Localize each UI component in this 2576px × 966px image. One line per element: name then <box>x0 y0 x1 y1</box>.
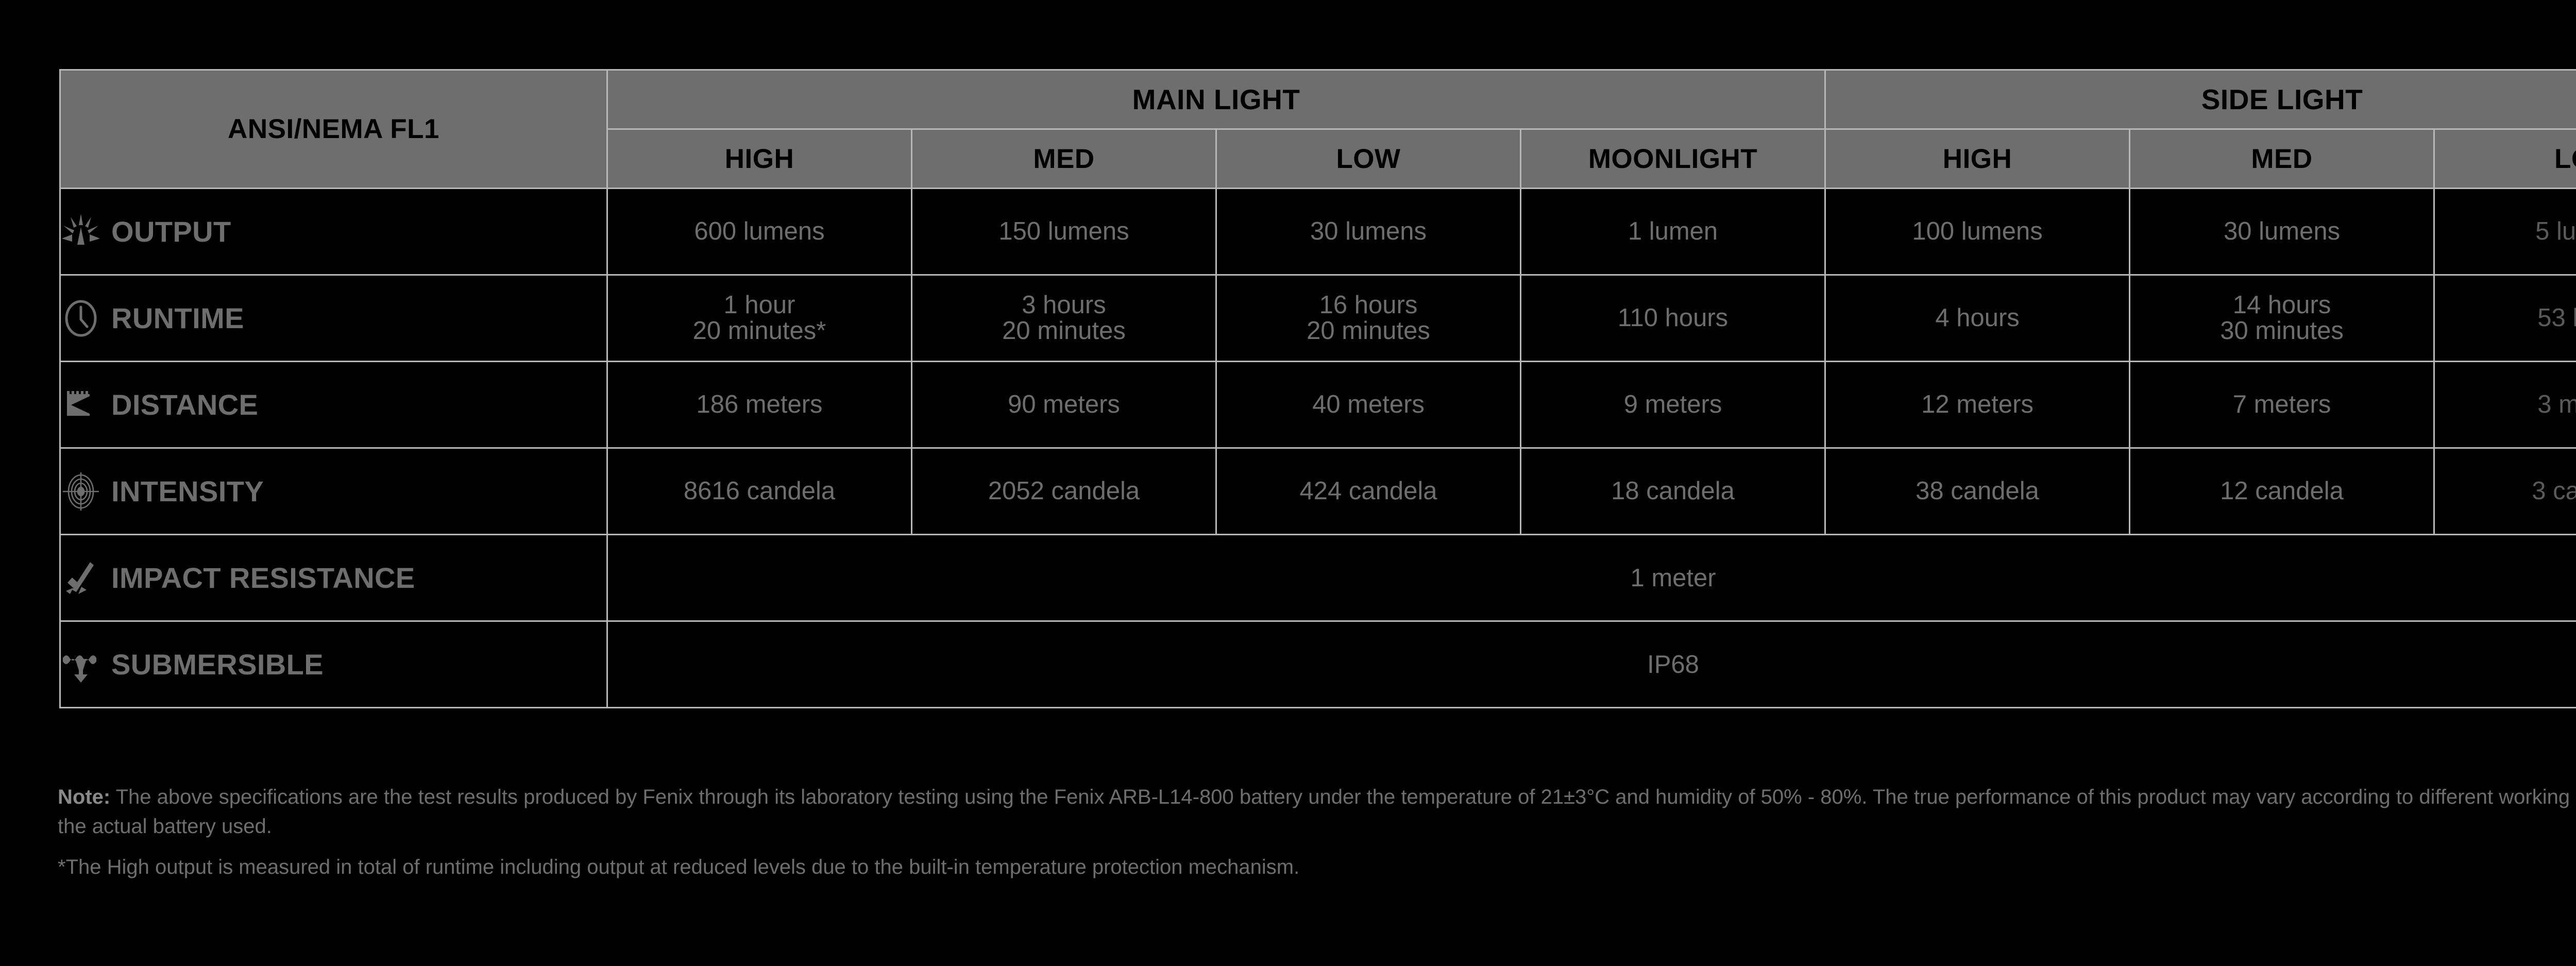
row-header-runtime: RUNTIME <box>60 275 607 362</box>
footnote-paragraph: *The High output is measured in total of… <box>58 853 2576 882</box>
cell-runtime-side-high: 4 hours <box>1825 275 2130 362</box>
cell-value: 110 hours <box>1618 304 1728 332</box>
row-label-distance: DISTANCE <box>111 388 258 421</box>
row-label-submersible: SUBMERSIBLE <box>111 648 324 681</box>
subheader-main-med: MED <box>912 129 1216 189</box>
cell-output-side-med: 30 lumens <box>2130 189 2434 275</box>
cell-value: 12 candela <box>2220 477 2344 505</box>
cell-intensity-main-moonlight: 18 candela <box>1521 448 1825 535</box>
note-body: The above specifications are the test re… <box>58 786 2576 838</box>
note-paragraph: Note: The above specifications are the t… <box>58 783 2576 841</box>
cell-output-main-moonlight: 1 lumen <box>1521 189 1825 275</box>
row-label-runtime: RUNTIME <box>111 301 244 335</box>
cell-value: 4 hours <box>1935 304 2019 332</box>
cell-value-line2: 20 minutes <box>1217 318 1520 344</box>
cell-value: 9 meters <box>1624 391 1722 418</box>
cell-value-line1: 3 hours <box>1022 291 1106 319</box>
cell-distance-main-low: 40 meters <box>1216 362 1521 448</box>
cell-output-side-low: 5 lumens <box>2434 189 2576 275</box>
group-header-side-light: SIDE LIGHT <box>1825 70 2576 129</box>
table-row: SUBMERSIBLE IP68 <box>60 621 2576 708</box>
row-header-distance: DISTANCE <box>60 362 607 448</box>
cell-value: 40 meters <box>1312 391 1425 418</box>
cell-runtime-main-moonlight: 110 hours <box>1521 275 1825 362</box>
cell-submersible-value: IP68 <box>607 621 2576 708</box>
notes-section: Note: The above specifications are the t… <box>58 783 2576 893</box>
subheader-side-low: LOW <box>2434 129 2576 189</box>
cell-intensity-side-high: 38 candela <box>1825 448 2130 535</box>
cell-distance-main-med: 90 meters <box>912 362 1216 448</box>
table-row: DISTANCE 186 meters 90 meters 40 meters … <box>60 362 2576 448</box>
cell-value-line2: 20 minutes* <box>608 318 911 344</box>
row-header-submersible: SUBMERSIBLE <box>60 621 607 708</box>
table-row: INTENSITY 8616 candela 2052 candela 424 … <box>60 448 2576 535</box>
table-row: RUNTIME 1 hour 20 minutes* 3 hours 20 mi… <box>60 275 2576 362</box>
row-label-impact-resistance: IMPACT RESISTANCE <box>111 561 415 595</box>
header-row-groups: ANSI/NEMA FL1 MAIN LIGHT SIDE LIGHT <box>60 70 2576 129</box>
table-header: ANSI/NEMA FL1 MAIN LIGHT SIDE LIGHT HIGH… <box>60 70 2576 189</box>
spec-sheet-page: ANSI/NEMA FL1 MAIN LIGHT SIDE LIGHT HIGH… <box>0 0 2576 966</box>
row-header-output: OUTPUT <box>60 189 607 275</box>
cell-value-line2: 20 minutes <box>912 318 1215 344</box>
cell-value: 8616 candela <box>684 477 835 505</box>
cell-value: 186 meters <box>696 391 822 418</box>
cell-intensity-side-med: 12 candela <box>2130 448 2434 535</box>
cell-output-main-med: 150 lumens <box>912 189 1216 275</box>
cell-runtime-main-low: 16 hours 20 minutes <box>1216 275 1521 362</box>
cell-value: 1 lumen <box>1628 217 1718 245</box>
cell-distance-side-med: 7 meters <box>2130 362 2434 448</box>
cell-output-main-low: 30 lumens <box>1216 189 1521 275</box>
subheader-main-moonlight: MOONLIGHT <box>1521 129 1825 189</box>
sunburst-icon <box>61 212 101 252</box>
cell-value: 53 hours <box>2537 304 2576 332</box>
table-body: OUTPUT 600 lumens 150 lumens 30 lumens 1… <box>60 189 2576 708</box>
cell-output-main-high: 600 lumens <box>607 189 912 275</box>
cell-value: 3 candela <box>2532 477 2576 505</box>
cell-value-line2: 30 minutes <box>2130 318 2433 344</box>
cell-impact-resistance-value: 1 meter <box>607 535 2576 621</box>
cell-intensity-main-low: 424 candela <box>1216 448 1521 535</box>
cell-runtime-side-med: 14 hours 30 minutes <box>2130 275 2434 362</box>
cell-distance-main-moonlight: 9 meters <box>1521 362 1825 448</box>
submersible-waves-icon <box>61 645 101 685</box>
row-header-impact-resistance: IMPACT RESISTANCE <box>60 535 607 621</box>
ansi-fl1-spec-table: ANSI/NEMA FL1 MAIN LIGHT SIDE LIGHT HIGH… <box>59 69 2576 708</box>
cell-output-side-high: 100 lumens <box>1825 189 2130 275</box>
cell-intensity-side-low: 3 candela <box>2434 448 2576 535</box>
cell-value: 30 lumens <box>1310 217 1427 245</box>
corner-header-ansi-nema-fl1: ANSI/NEMA FL1 <box>60 70 607 189</box>
row-label-output: OUTPUT <box>111 215 231 248</box>
cell-value: 600 lumens <box>694 217 824 245</box>
cell-value: 30 lumens <box>2224 217 2340 245</box>
group-header-main-light: MAIN LIGHT <box>607 70 1825 129</box>
cell-value: 2052 candela <box>988 477 1140 505</box>
cell-intensity-main-med: 2052 candela <box>912 448 1216 535</box>
cell-value-line1: 1 hour <box>724 291 795 319</box>
cell-value: 90 meters <box>1008 391 1120 418</box>
subheader-side-high: HIGH <box>1825 129 2130 189</box>
row-header-intensity: INTENSITY <box>60 448 607 535</box>
cell-distance-side-low: 3 meters <box>2434 362 2576 448</box>
table-row: IMPACT RESISTANCE 1 meter <box>60 535 2576 621</box>
subheader-main-high: HIGH <box>607 129 912 189</box>
cell-value: 18 candela <box>1611 477 1735 505</box>
cell-runtime-main-med: 3 hours 20 minutes <box>912 275 1216 362</box>
subheader-side-med: MED <box>2130 129 2434 189</box>
cell-value: 5 lumens <box>2535 217 2576 245</box>
cell-value: 38 candela <box>1916 477 2039 505</box>
cell-value-line1: 16 hours <box>1319 291 1418 319</box>
subheader-main-low: LOW <box>1216 129 1521 189</box>
clock-icon <box>61 298 101 338</box>
row-label-intensity: INTENSITY <box>111 474 264 508</box>
beam-distance-icon <box>61 385 101 425</box>
impact-drop-icon <box>61 558 101 598</box>
cell-value: 12 meters <box>1921 391 2033 418</box>
cell-distance-side-high: 12 meters <box>1825 362 2130 448</box>
cell-value: 100 lumens <box>1912 217 2042 245</box>
cell-value: 150 lumens <box>998 217 1129 245</box>
cell-value-line1: 14 hours <box>2233 291 2331 319</box>
target-intensity-icon <box>61 471 101 512</box>
table-row: OUTPUT 600 lumens 150 lumens 30 lumens 1… <box>60 189 2576 275</box>
cell-value: 7 meters <box>2233 391 2331 418</box>
note-label: Note: <box>58 786 110 808</box>
cell-value: 424 candela <box>1299 477 1437 505</box>
cell-runtime-side-low: 53 hours <box>2434 275 2576 362</box>
cell-intensity-main-high: 8616 candela <box>607 448 912 535</box>
cell-value: 3 meters <box>2537 391 2576 418</box>
cell-distance-main-high: 186 meters <box>607 362 912 448</box>
cell-runtime-main-high: 1 hour 20 minutes* <box>607 275 912 362</box>
